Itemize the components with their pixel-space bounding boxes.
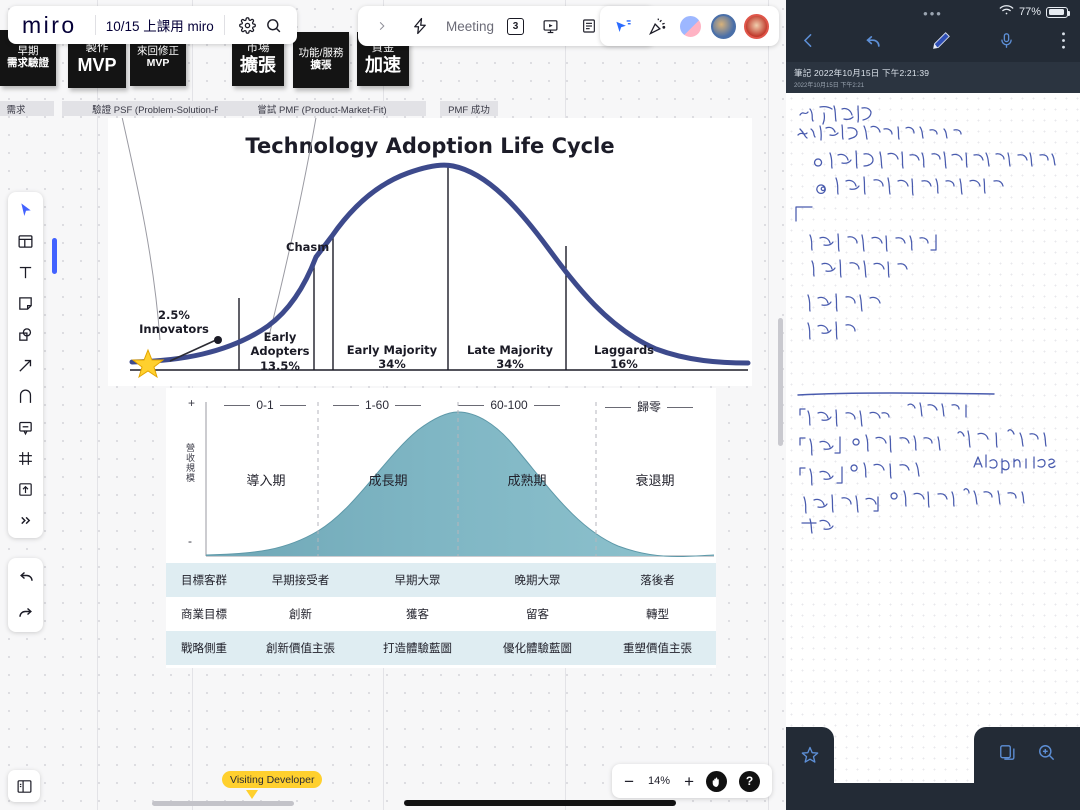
- table-cell: 重塑價值主張: [599, 640, 716, 656]
- divider: [224, 15, 225, 35]
- shapes-icon[interactable]: [15, 323, 37, 345]
- zoom-in-icon[interactable]: [1037, 743, 1056, 767]
- chart2-summary-table: 目標客群 早期接受者 早期大眾 晚期大眾 落後者 商業目標 創新 獲客 留客 轉…: [166, 563, 716, 665]
- chart1-chasm-annotation: Chasm: [286, 240, 329, 254]
- frame-icon[interactable]: [15, 447, 37, 469]
- arrow-icon[interactable]: [15, 354, 37, 376]
- battery-icon: [1046, 7, 1068, 18]
- chart1-segment-early-majority: Early Majority 34%: [338, 343, 446, 372]
- table-cell: 優化體驗藍圖: [476, 640, 599, 656]
- note-bottom-tools: [974, 727, 1080, 783]
- board-title[interactable]: 10/15 上課用 miro: [106, 15, 214, 35]
- handwritten-ink: [786, 93, 1080, 783]
- miro-top-bar: miro 10/15 上課用 miro: [8, 6, 297, 44]
- zoom-level[interactable]: 14%: [646, 775, 672, 787]
- gear-icon[interactable]: [235, 12, 261, 38]
- visiting-developer-tag: Visiting Developer: [222, 771, 322, 788]
- horizontal-scrollbar[interactable]: [152, 801, 294, 806]
- table-cell: 轉型: [599, 606, 716, 622]
- visiting-developer-cursor: [246, 790, 258, 799]
- more-vertical-icon[interactable]: [1061, 31, 1066, 55]
- upload-icon[interactable]: [15, 478, 37, 500]
- status-dots: •••: [786, 6, 1080, 21]
- cursor-icon[interactable]: [15, 199, 37, 221]
- avatar[interactable]: [711, 14, 736, 39]
- sticky-note-icon[interactable]: [15, 292, 37, 314]
- phase-bar[interactable]: 嘗試 PMF (Product-Market-Fit): [218, 101, 426, 116]
- technology-adoption-lifecycle-chart: Technology Adoption Life Cycle: [108, 118, 752, 386]
- table-cell: 早期接受者: [242, 572, 359, 588]
- more-icon[interactable]: [15, 509, 37, 531]
- row-header: 戰略側重: [166, 640, 242, 656]
- pen-icon[interactable]: [930, 30, 952, 57]
- table-cell: 創新: [242, 606, 359, 622]
- undo-redo-rail: [8, 558, 43, 632]
- table-row: 商業目標 創新 獲客 留客 轉型: [166, 597, 716, 631]
- chart2-stage-2: 成熟期: [458, 470, 596, 489]
- meeting-label[interactable]: Meeting: [446, 19, 494, 34]
- redo-icon[interactable]: [15, 602, 37, 624]
- sticky-line-1: 市場: [247, 42, 270, 55]
- note-title: 筆記 2022年10月15日 下午2:21:39: [794, 67, 1072, 79]
- presentation-icon[interactable]: [537, 13, 563, 39]
- miro-logo[interactable]: miro: [18, 12, 85, 39]
- table-cell: 晚期大眾: [476, 572, 599, 588]
- table-row: 戰略側重 創新價值主張 打造體驗藍圖 優化體驗藍圖 重塑價值主張: [166, 631, 716, 665]
- sticky-line-2: 擴張: [311, 60, 332, 72]
- cursor-share-icon[interactable]: [610, 13, 636, 39]
- table-row: 目標客群 早期接受者 早期大眾 晚期大眾 落後者: [166, 563, 716, 597]
- row-header: 目標客群: [166, 572, 242, 588]
- phase-bar[interactable]: 需求: [0, 101, 54, 116]
- pen-icon[interactable]: [15, 385, 37, 407]
- chart1-segment-laggards: Laggards 16%: [573, 343, 675, 372]
- vertical-indicator: [52, 238, 57, 274]
- participants-badge[interactable]: 3: [507, 18, 524, 35]
- search-icon[interactable]: [261, 12, 287, 38]
- zoom-bar: − 14% + ?: [612, 764, 772, 798]
- undo-icon[interactable]: [863, 31, 883, 56]
- note-header: 筆記 2022年10月15日 下午2:21:39 2022年10月15日 下午2…: [786, 62, 1080, 93]
- lightning-icon[interactable]: [407, 13, 433, 39]
- divider: [95, 15, 96, 35]
- sticky-note[interactable]: 功能/服務擴張: [293, 32, 349, 88]
- status-bar: ••• 77%: [786, 0, 1080, 24]
- zoom-out-button[interactable]: −: [624, 773, 634, 790]
- table-cell: 留客: [476, 606, 599, 622]
- notes-app-panel: ••• 77%: [786, 0, 1080, 810]
- chart2-stage-1: 成長期: [318, 470, 458, 489]
- sticky-line-2: MVP: [147, 58, 170, 70]
- vertical-scrollbar[interactable]: [778, 318, 783, 446]
- notes-icon[interactable]: [576, 13, 602, 39]
- zoom-in-button[interactable]: +: [684, 773, 694, 790]
- chart2-stage-0: 導入期: [214, 470, 318, 489]
- tool-rail: [8, 192, 43, 538]
- panel-toggle-icon[interactable]: [8, 770, 40, 802]
- chart1-segment-early-adopters: Early Adopters 13.5%: [249, 330, 311, 373]
- product-lifecycle-chart: + - 營收規模 0-1 1-60 60-100 歸零: [166, 388, 716, 668]
- microphone-icon[interactable]: [998, 31, 1015, 55]
- help-icon[interactable]: ?: [739, 771, 760, 792]
- collaboration-bar: [600, 6, 779, 46]
- table-cell: 落後者: [599, 572, 716, 588]
- avatar[interactable]: [744, 14, 769, 39]
- canvas-guide: [768, 0, 769, 810]
- note-subtitle: 2022年10月15日 下午2:21: [794, 80, 1072, 89]
- back-icon[interactable]: [800, 31, 817, 55]
- chart1-innovators-label: 2.5% Innovators: [134, 308, 214, 337]
- horizontal-scrollbar-active[interactable]: [404, 800, 676, 806]
- chart2-stage-3: 衰退期: [596, 470, 714, 489]
- phase-bar[interactable]: PMF 成功: [440, 101, 498, 116]
- avatar[interactable]: [678, 14, 703, 39]
- undo-icon[interactable]: [15, 566, 37, 588]
- chevron-right-icon[interactable]: [368, 13, 394, 39]
- sticky-line-2: 需求驗證: [7, 58, 49, 70]
- template-icon[interactable]: [15, 230, 37, 252]
- screen-root: 早期需求驗證製作MVP來回修正MVP市場擴張功能/服務擴張資金加速 需求驗證 P…: [0, 0, 1080, 810]
- celebrate-icon[interactable]: [644, 13, 670, 39]
- text-icon[interactable]: [15, 261, 37, 283]
- comment-icon[interactable]: [15, 416, 37, 438]
- notes-toolbar: [786, 24, 1080, 62]
- row-header: 商業目標: [166, 606, 242, 622]
- sticky-line-2: 加速: [365, 55, 401, 75]
- star-icon[interactable]: [786, 727, 834, 783]
- sticky-line-2: 擴張: [240, 55, 276, 75]
- sticky-line-2: MVP: [77, 55, 116, 75]
- miro-canvas[interactable]: 早期需求驗證製作MVP來回修正MVP市場擴張功能/服務擴張資金加速 需求驗證 P…: [0, 0, 786, 810]
- note-canvas[interactable]: [786, 93, 1080, 783]
- canvas-guide: [97, 0, 98, 810]
- copy-page-icon[interactable]: [998, 743, 1017, 767]
- chart1-segment-late-majority: Late Majority 34%: [458, 343, 562, 372]
- hand-icon[interactable]: [706, 771, 727, 792]
- table-cell: 早期大眾: [359, 572, 476, 588]
- table-cell: 創新價值主張: [242, 640, 359, 656]
- sticky-line-1: 製作: [86, 42, 109, 55]
- table-cell: 打造體驗藍圖: [359, 640, 476, 656]
- table-cell: 獲客: [359, 606, 476, 622]
